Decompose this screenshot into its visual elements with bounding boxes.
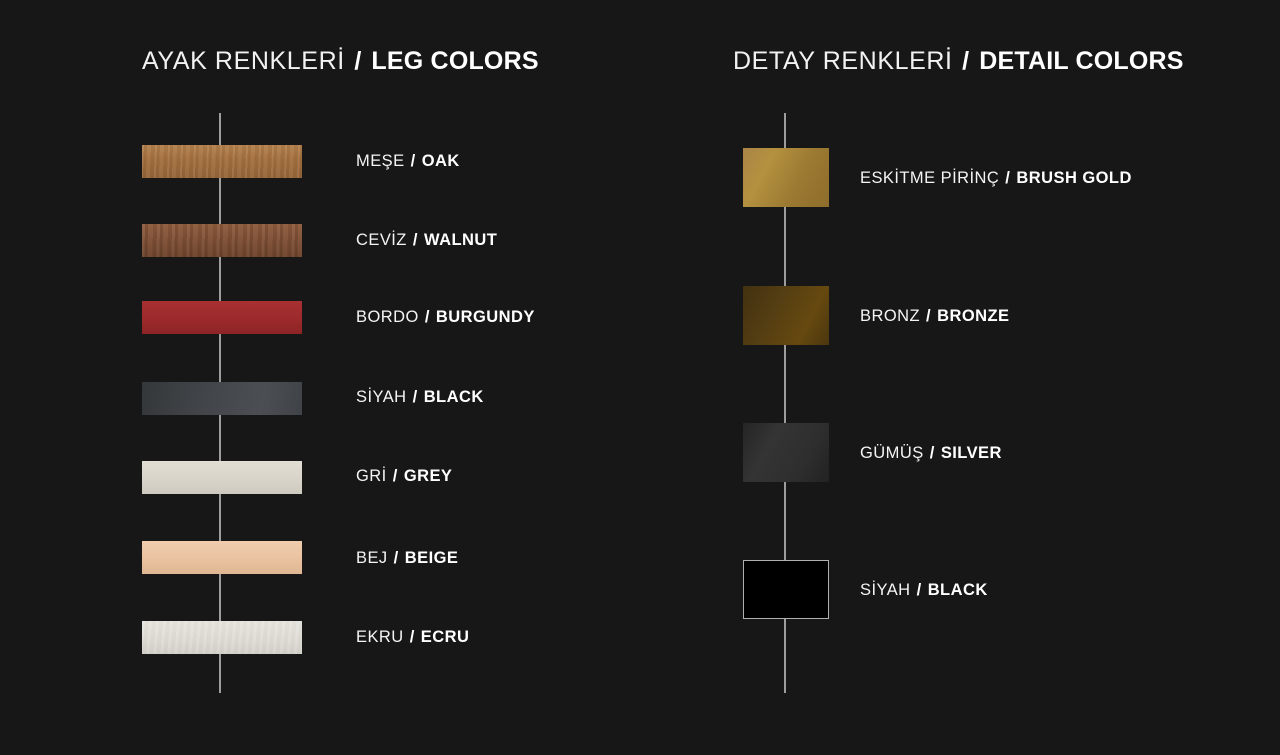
swatch-oak-texture [142, 145, 302, 178]
swatch-silver[interactable] [743, 423, 829, 482]
swatch-label-oak-turkish: MEŞE [356, 152, 405, 170]
swatch-label-ecru-turkish: EKRU [356, 628, 404, 646]
detail-colors-heading-separator: / [960, 47, 972, 75]
swatch-label-burgundy-turkish: BORDO [356, 308, 419, 326]
swatch-ecru[interactable] [142, 621, 302, 654]
swatch-ecru-texture [142, 621, 302, 654]
swatch-brush-gold[interactable] [743, 148, 829, 207]
swatch-black-leg-texture [142, 382, 302, 415]
swatch-label-silver-turkish: GÜMÜŞ [860, 444, 924, 462]
swatch-label-black-leg-separator: / [412, 388, 419, 406]
swatch-label-oak-separator: / [410, 152, 417, 170]
swatch-label-silver-english: SILVER [941, 444, 1002, 462]
swatch-label-brush-gold: ESKİTME PİRİNÇ / BRUSH GOLD [860, 168, 1132, 188]
leg-colors-heading-english: LEG COLORS [371, 47, 538, 75]
swatch-label-brush-gold-turkish: ESKİTME PİRİNÇ [860, 169, 999, 187]
swatch-label-burgundy-separator: / [424, 308, 431, 326]
swatch-label-black-leg-turkish: SİYAH [356, 388, 407, 406]
swatch-label-bronze-separator: / [925, 307, 932, 325]
swatch-label-grey: GRİ / GREY [356, 466, 452, 486]
detail-colors-heading-turkish: DETAY RENKLERİ [733, 47, 953, 75]
swatch-label-oak-english: OAK [422, 152, 460, 170]
swatch-label-walnut-separator: / [412, 231, 419, 249]
swatch-label-silver: GÜMÜŞ / SILVER [860, 443, 1002, 463]
swatch-label-burgundy: BORDO / BURGUNDY [356, 307, 535, 327]
swatch-black-detail[interactable] [743, 560, 829, 619]
swatch-label-brush-gold-english: BRUSH GOLD [1016, 169, 1131, 187]
swatch-bronze-texture [743, 286, 829, 345]
swatch-beige[interactable] [142, 541, 302, 574]
swatch-brush-gold-texture [743, 148, 829, 207]
swatch-grey[interactable] [142, 461, 302, 494]
swatch-walnut-texture [142, 224, 302, 257]
swatch-black-leg[interactable] [142, 382, 302, 415]
swatch-grey-texture [142, 461, 302, 494]
swatch-bronze[interactable] [743, 286, 829, 345]
swatch-label-grey-turkish: GRİ [356, 467, 387, 485]
swatch-label-walnut: CEVİZ / WALNUT [356, 230, 497, 250]
swatch-label-bronze-turkish: BRONZ [860, 307, 920, 325]
swatch-label-black-detail-english: BLACK [928, 581, 988, 599]
swatch-label-grey-english: GREY [404, 467, 453, 485]
swatch-label-grey-separator: / [392, 467, 399, 485]
swatch-beige-texture [142, 541, 302, 574]
swatch-burgundy[interactable] [142, 301, 302, 334]
swatch-label-ecru-separator: / [409, 628, 416, 646]
swatch-label-beige: BEJ / BEIGE [356, 548, 458, 568]
swatch-label-black-leg: SİYAH / BLACK [356, 387, 484, 407]
swatch-label-silver-separator: / [929, 444, 936, 462]
detail-colors-heading: DETAY RENKLERİ / DETAIL COLORS [733, 44, 1184, 78]
leg-colors-heading: AYAK RENKLERİ / LEG COLORS [142, 44, 539, 78]
swatch-label-black-leg-english: BLACK [424, 388, 484, 406]
swatch-label-beige-separator: / [393, 549, 400, 567]
swatch-label-bronze: BRONZ / BRONZE [860, 306, 1010, 326]
swatch-label-beige-turkish: BEJ [356, 549, 388, 567]
swatch-label-black-detail-separator: / [916, 581, 923, 599]
detail-colors-heading-english: DETAIL COLORS [979, 47, 1183, 75]
swatch-label-burgundy-english: BURGUNDY [436, 308, 535, 326]
swatch-label-oak: MEŞE / OAK [356, 151, 460, 171]
swatch-label-brush-gold-separator: / [1004, 169, 1011, 187]
color-palette-board: AYAK RENKLERİ / LEG COLORS MEŞE / OAK CE… [0, 0, 1280, 755]
swatch-label-bronze-english: BRONZE [937, 307, 1009, 325]
swatch-walnut[interactable] [142, 224, 302, 257]
swatch-label-ecru-english: ECRU [421, 628, 470, 646]
swatch-black-detail-texture [744, 561, 828, 618]
swatch-label-black-detail: SİYAH / BLACK [860, 580, 988, 600]
swatch-oak[interactable] [142, 145, 302, 178]
swatch-label-beige-english: BEIGE [405, 549, 459, 567]
swatch-silver-texture [743, 423, 829, 482]
leg-colors-heading-separator: / [352, 47, 364, 75]
swatch-label-black-detail-turkish: SİYAH [860, 581, 911, 599]
swatch-label-walnut-english: WALNUT [424, 231, 497, 249]
swatch-burgundy-texture [142, 301, 302, 334]
swatch-label-walnut-turkish: CEVİZ [356, 231, 407, 249]
swatch-label-ecru: EKRU / ECRU [356, 627, 469, 647]
leg-colors-heading-turkish: AYAK RENKLERİ [142, 47, 345, 75]
